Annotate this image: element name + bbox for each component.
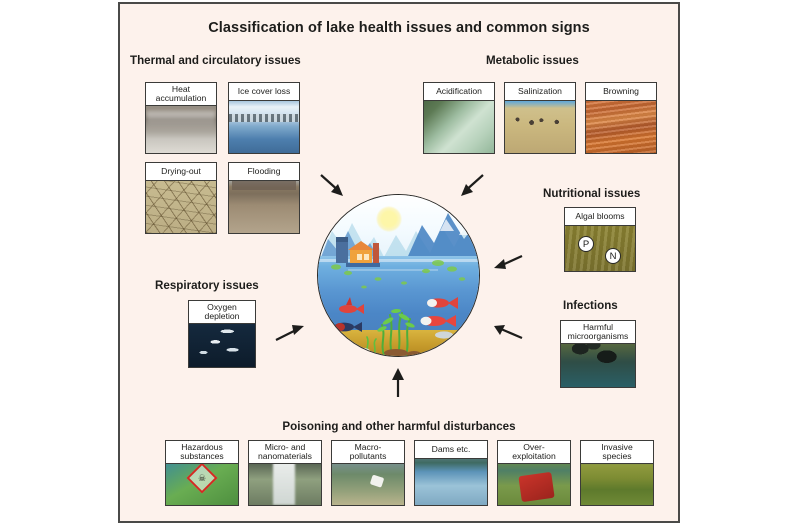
arrow-top-right-icon	[456, 172, 486, 200]
card-flooding[interactable]: Flooding	[228, 162, 300, 234]
arrow-left-lower-icon	[274, 322, 308, 344]
hazard-diamond-icon: ☠	[186, 463, 217, 494]
card-label-acidification: Acidification	[424, 83, 494, 101]
card-label-oxygen-depletion: Oxygen depletion	[189, 301, 255, 324]
figure-title: Classification of lake health issues and…	[120, 20, 678, 36]
card-hazardous-substances[interactable]: ☠ Hazardous substances	[165, 440, 239, 506]
card-label-over-exploitation: Over- exploitation	[498, 441, 570, 464]
card-harmful-microorganisms[interactable]: Harmful microorganisms	[560, 320, 636, 388]
card-micro-and-nanomaterials[interactable]: Micro- and nanomaterials	[248, 440, 322, 506]
lakebed-stone	[354, 348, 370, 354]
card-salinization[interactable]: Salinization	[504, 82, 576, 154]
section-title-metabolic: Metabolic issues	[486, 54, 579, 67]
arrow-right-upper-icon	[490, 252, 524, 274]
aquatic-plants	[318, 301, 480, 356]
card-label-dams-etc: Dams etc.	[415, 441, 487, 459]
section-title-thermal: Thermal and circulatory issues	[130, 54, 301, 67]
lake-ecosystem-illustration	[317, 194, 480, 357]
card-drying-out[interactable]: Drying-out	[145, 162, 217, 234]
card-over-exploitation[interactable]: Over- exploitation	[497, 440, 571, 506]
card-algal-blooms[interactable]: P N Algal blooms	[564, 207, 636, 272]
card-dams-etc[interactable]: Dams etc.	[414, 440, 488, 506]
card-label-heat-accumulation: Heat accumulation	[146, 83, 216, 106]
nitrogen-badge: N	[605, 248, 621, 264]
section-title-poisoning: Poisoning and other harmful disturbances	[120, 420, 678, 433]
card-label-macro-pollutants: Macro- pollutants	[332, 441, 404, 464]
card-label-harmful-microorganisms: Harmful microorganisms	[561, 321, 635, 344]
card-label-invasive-species: Invasive species	[581, 441, 653, 464]
card-label-flooding: Flooding	[229, 163, 299, 181]
card-label-drying-out: Drying-out	[146, 163, 216, 181]
arrow-right-lower-icon	[490, 322, 524, 344]
card-label-micro-and-nanomaterials: Micro- and nanomaterials	[249, 441, 321, 464]
card-label-hazardous-substances: Hazardous substances	[166, 441, 238, 464]
card-oxygen-depletion[interactable]: Oxygen depletion	[188, 300, 256, 368]
lakebed-rocks	[384, 349, 421, 356]
card-heat-accumulation[interactable]: Heat accumulation	[145, 82, 217, 154]
card-label-salinization: Salinization	[505, 83, 575, 101]
arrow-bottom-icon	[388, 366, 408, 398]
card-label-browning: Browning	[586, 83, 656, 101]
card-ice-cover-loss[interactable]: Ice cover loss	[228, 82, 300, 154]
section-title-nutritional: Nutritional issues	[543, 187, 640, 200]
figure-panel: Classification of lake health issues and…	[118, 2, 680, 523]
card-label-algal-blooms: Algal blooms	[565, 208, 635, 226]
card-acidification[interactable]: Acidification	[423, 82, 495, 154]
arrow-top-left-icon	[318, 172, 348, 200]
card-browning[interactable]: Browning	[585, 82, 657, 154]
section-title-infections: Infections	[563, 299, 618, 312]
card-label-ice-cover-loss: Ice cover loss	[229, 83, 299, 101]
phosphorus-badge: P	[578, 236, 594, 252]
card-invasive-species[interactable]: Invasive species	[580, 440, 654, 506]
card-macro-pollutants[interactable]: Macro- pollutants	[331, 440, 405, 506]
section-title-respiratory: Respiratory issues	[155, 279, 259, 292]
